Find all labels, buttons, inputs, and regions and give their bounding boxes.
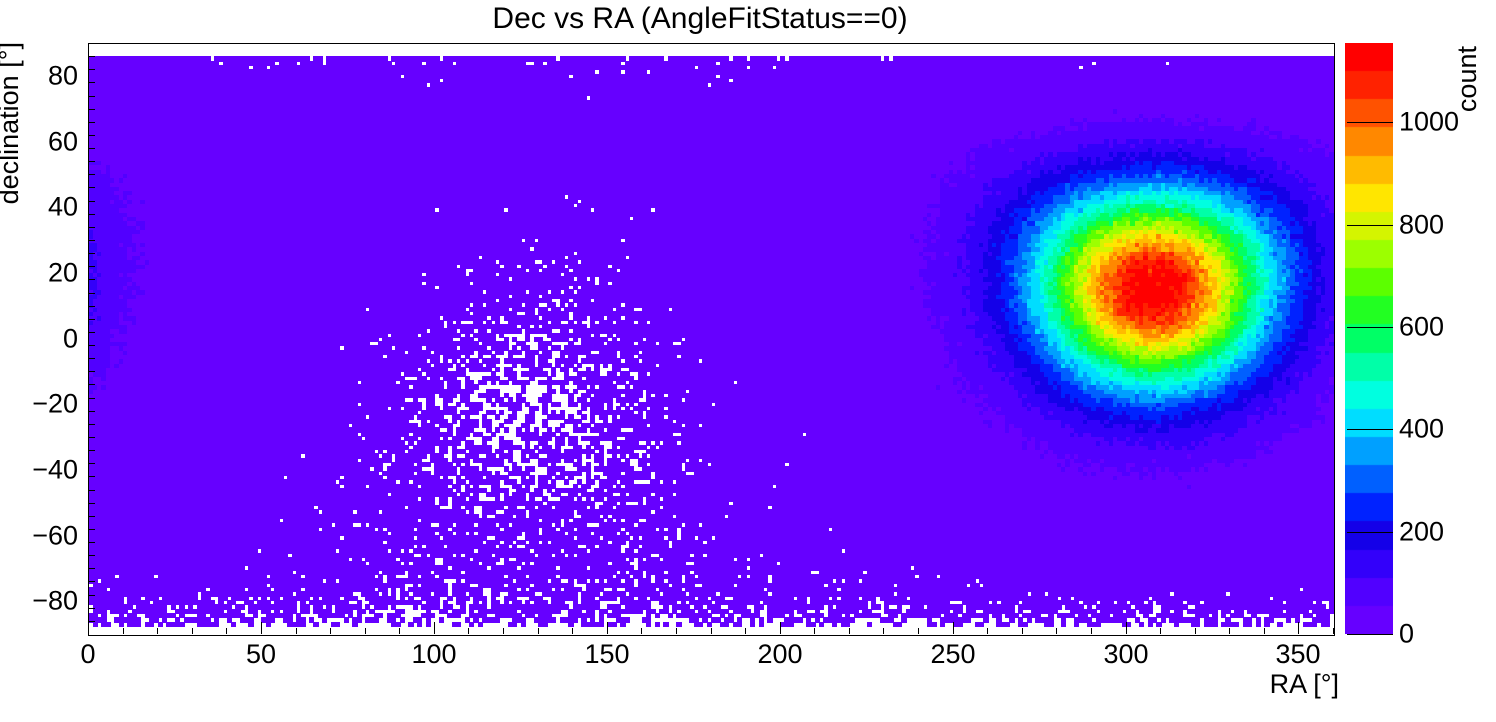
x-tick-minor: [365, 628, 366, 634]
y-tick-minor: [89, 227, 95, 228]
y-tick-label: −60: [0, 521, 78, 552]
y-tick-minor: [89, 384, 95, 385]
y-tick-minor: [89, 306, 95, 307]
y-tick-minor: [89, 503, 95, 504]
y-tick-minor: [89, 490, 95, 491]
x-tick-major: [261, 622, 262, 634]
y-tick-minor: [89, 135, 95, 136]
y-tick-minor: [89, 476, 95, 477]
y-tick-minor: [89, 187, 95, 188]
x-tick-minor: [1195, 628, 1196, 634]
y-tick-minor: [89, 371, 95, 372]
x-tick-label: 100: [411, 639, 456, 670]
x-tick-minor: [814, 628, 815, 634]
x-tick-major: [1298, 622, 1299, 634]
x-tick-label: 200: [757, 639, 802, 670]
y-tick-minor: [89, 424, 95, 425]
color-scale-tick: [1347, 429, 1393, 430]
x-tick-minor: [157, 628, 158, 634]
y-tick-minor: [89, 56, 95, 57]
x-tick-major: [434, 622, 435, 634]
x-tick-major: [780, 622, 781, 634]
y-tick-minor: [89, 82, 95, 83]
x-tick-major: [88, 622, 89, 634]
y-tick-minor: [89, 240, 95, 241]
y-tick-minor: [89, 293, 95, 294]
y-tick-minor: [89, 279, 95, 280]
y-tick-minor: [89, 253, 95, 254]
x-tick-minor: [468, 628, 469, 634]
color-scale-label: 800: [1399, 210, 1444, 241]
x-tick-major: [1126, 622, 1127, 634]
y-axis-title: declination [°]: [0, 42, 25, 204]
y-tick-label: −20: [0, 389, 78, 420]
x-tick-label: 250: [930, 639, 975, 670]
y-tick-minor: [89, 581, 95, 582]
y-tick-minor: [89, 332, 95, 333]
x-tick-minor: [296, 628, 297, 634]
x-tick-minor: [1056, 628, 1057, 634]
y-tick-minor: [89, 96, 95, 97]
color-scale-label: 400: [1399, 414, 1444, 445]
color-scale-tick: [1347, 634, 1393, 635]
y-tick-minor: [89, 161, 95, 162]
color-scale-title: count: [1452, 46, 1483, 112]
y-tick-label: 0: [0, 324, 78, 355]
x-tick-label: 300: [1103, 639, 1148, 670]
y-tick-minor: [89, 398, 95, 399]
color-scale-label: 1000: [1399, 107, 1459, 138]
x-tick-minor: [711, 628, 712, 634]
y-tick-minor: [89, 109, 95, 110]
y-tick-minor: [89, 201, 95, 202]
x-tick-minor: [1091, 628, 1092, 634]
y-tick-minor: [89, 148, 95, 149]
color-scale-gradient: [1345, 43, 1393, 634]
y-tick-minor: [89, 214, 95, 215]
color-scale-label: 200: [1399, 517, 1444, 548]
x-tick-minor: [987, 628, 988, 634]
x-tick-label: 350: [1275, 639, 1320, 670]
y-tick-minor: [89, 174, 95, 175]
x-tick-minor: [745, 628, 746, 634]
color-scale-label: 0: [1399, 619, 1414, 650]
x-tick-label: 50: [246, 639, 276, 670]
y-tick-label: −40: [0, 455, 78, 486]
histogram-image: [89, 44, 1334, 635]
y-tick-minor: [89, 69, 95, 70]
y-tick-minor: [89, 608, 95, 609]
x-tick-minor: [1229, 628, 1230, 634]
y-tick-minor: [89, 529, 95, 530]
color-scale-tick: [1347, 327, 1393, 328]
x-tick-minor: [1264, 628, 1265, 634]
x-tick-minor: [918, 628, 919, 634]
y-tick-minor: [89, 122, 95, 123]
x-tick-minor: [1022, 628, 1023, 634]
y-tick-minor: [89, 411, 95, 412]
plot-canvas-root: Dec vs RA (AngleFitStatus==0) 0501001502…: [0, 0, 1496, 722]
x-tick-minor: [1333, 628, 1334, 634]
y-tick-minor: [89, 463, 95, 464]
x-tick-minor: [399, 628, 400, 634]
x-tick-label: 150: [584, 639, 629, 670]
x-tick-minor: [192, 628, 193, 634]
y-tick-label: −80: [0, 586, 78, 617]
x-tick-minor: [123, 628, 124, 634]
color-scale-tick: [1347, 122, 1393, 123]
y-tick-minor: [89, 555, 95, 556]
y-tick-label: 20: [0, 258, 78, 289]
color-scale-tick: [1347, 225, 1393, 226]
histogram-frame: [88, 43, 1335, 636]
x-tick-minor: [572, 628, 573, 634]
y-tick-minor: [89, 621, 95, 622]
y-tick-minor: [89, 266, 95, 267]
y-tick-minor: [89, 516, 95, 517]
y-tick-minor: [89, 437, 95, 438]
page-title: Dec vs RA (AngleFitStatus==0): [0, 2, 1400, 36]
y-tick-minor: [89, 319, 95, 320]
x-axis-title: RA [°]: [1270, 669, 1339, 700]
x-tick-minor: [503, 628, 504, 634]
x-tick-minor: [330, 628, 331, 634]
x-tick-minor: [1160, 628, 1161, 634]
color-scale-label: 600: [1399, 312, 1444, 343]
x-tick-label: 0: [80, 639, 95, 670]
x-tick-major: [607, 622, 608, 634]
x-tick-minor: [226, 628, 227, 634]
color-scale-tick: [1347, 532, 1393, 533]
y-tick-minor: [89, 345, 95, 346]
y-tick-minor: [89, 568, 95, 569]
x-tick-minor: [849, 628, 850, 634]
x-tick-minor: [538, 628, 539, 634]
x-tick-major: [953, 622, 954, 634]
y-tick-minor: [89, 450, 95, 451]
x-tick-minor: [641, 628, 642, 634]
y-tick-minor: [89, 542, 95, 543]
color-scale-bar: [1345, 43, 1393, 634]
y-tick-minor: [89, 358, 95, 359]
x-tick-minor: [676, 628, 677, 634]
y-tick-minor: [89, 595, 95, 596]
x-tick-minor: [883, 628, 884, 634]
